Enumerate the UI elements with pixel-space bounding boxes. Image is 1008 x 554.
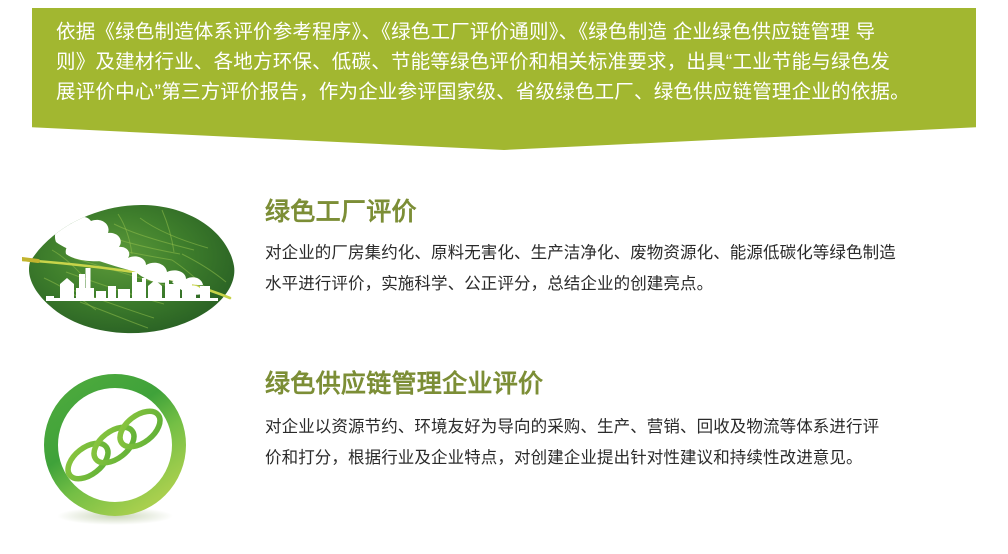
- text-line: 价和打分，根据行业及企业特点，对创建企业提出针对性建议和持续性改进意见。: [265, 443, 995, 474]
- leaf-factory-icon: [22, 196, 242, 346]
- page-root: 依据《绿色制造体系评价参考程序》、《绿色工厂评价通则》、《绿色制造 企业绿色供应…: [0, 0, 1008, 554]
- banner-text-block: 依据《绿色制造体系评价参考程序》、《绿色工厂评价通则》、《绿色制造 企业绿色供应…: [56, 17, 956, 107]
- section-title-green-supply-chain: 绿色供应链管理企业评价: [265, 368, 995, 400]
- section-green-factory-body: 绿色工厂评价 对企业的厂房集约化、原料无害化、生产洁净化、废物资源化、能源低碳化…: [265, 196, 995, 300]
- text-line: 水平进行评价，实施科学、公正评分，总结企业的创建亮点。: [265, 269, 995, 300]
- text-line: 对企业以资源节约、环境友好为导向的采购、生产、营销、回收及物流等体系进行评: [265, 412, 995, 443]
- banner-line-1: 依据《绿色制造体系评价参考程序》、《绿色工厂评价通则》、《绿色制造 企业绿色供应…: [56, 17, 956, 47]
- banner-line-2: 则》及建材行业、各地方环保、低碳、节能等绿色评价和相关标准要求，出具“工业节能与…: [56, 47, 956, 77]
- section-text-green-factory: 对企业的厂房集约化、原料无害化、生产洁净化、废物资源化、能源低碳化等绿色制造 水…: [265, 238, 995, 300]
- banner-line-3: 展评价中心”第三方评价报告，作为企业参评国家级、省级绿色工厂、绿色供应链管理企业…: [56, 77, 956, 107]
- intro-banner: 依据《绿色制造体系评价参考程序》、《绿色工厂评价通则》、《绿色制造 企业绿色供应…: [32, 8, 976, 150]
- text-line: 对企业的厂房集约化、原料无害化、生产洁净化、废物资源化、能源低碳化等绿色制造: [265, 238, 995, 269]
- section-title-green-factory: 绿色工厂评价: [265, 196, 995, 228]
- green-supply-chain-circle-icon: [22, 368, 217, 540]
- section-green-supply-chain-body: 绿色供应链管理企业评价 对企业以资源节约、环境友好为导向的采购、生产、营销、回收…: [265, 368, 995, 474]
- section-text-green-supply-chain: 对企业以资源节约、环境友好为导向的采购、生产、营销、回收及物流等体系进行评 价和…: [265, 412, 995, 474]
